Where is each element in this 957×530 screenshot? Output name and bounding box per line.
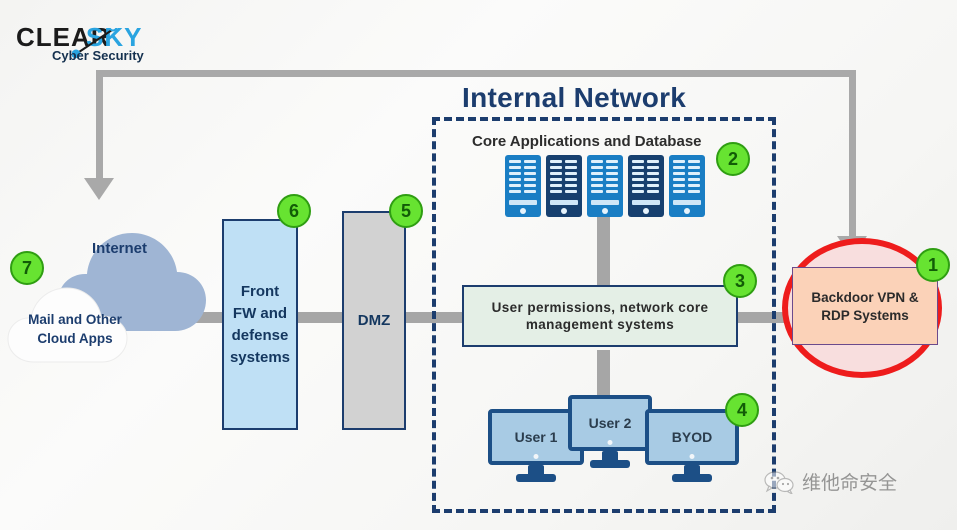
core-applications-label: Core Applications and Database (472, 133, 702, 150)
server-unit (628, 155, 664, 217)
step-badge-7: 7 (10, 251, 44, 285)
server-unit (546, 155, 582, 217)
step-badge-6: 6 (277, 194, 311, 228)
workstation-user-2: User 2 (568, 395, 652, 468)
workstation-byod: BYOD (645, 409, 739, 482)
mail-cloud-line-1: Mail and Other (28, 312, 122, 327)
workstation-label: User 1 (515, 429, 558, 445)
internet-label: Internet (92, 240, 147, 257)
workstation-label: User 2 (589, 415, 632, 431)
user-permissions-box: User permissions, network core managemen… (462, 285, 738, 347)
diagram-canvas: CLEAR SKY Cyber Security Internal Networ… (0, 0, 957, 530)
mail-cloud-label: Mail and Other Cloud Apps (10, 310, 140, 348)
path-left-segment (96, 70, 103, 180)
internal-network-title: Internal Network (462, 82, 686, 114)
dmz-label: DMZ (358, 312, 391, 329)
dmz-box: DMZ (342, 211, 406, 430)
workstation-label: BYOD (672, 429, 712, 445)
permissions-line-2: management systems (526, 317, 674, 332)
firewall-line-3: defense (232, 325, 289, 347)
server-unit (587, 155, 623, 217)
server-unit (505, 155, 541, 217)
step-badge-4: 4 (725, 393, 759, 427)
logo-tagline: Cyber Security (52, 48, 144, 63)
wechat-icon (764, 470, 794, 494)
path-top-segment (96, 70, 856, 77)
path-right-segment (849, 70, 856, 240)
firewall-line-1: Front (241, 281, 279, 303)
step-badge-3: 3 (723, 264, 757, 298)
front-firewall-box: Front FW and defense systems (222, 219, 298, 430)
firewall-line-2: FW and (233, 303, 287, 325)
backdoor-line-2: RDP Systems (821, 308, 909, 323)
arrow-to-internet-icon (84, 178, 114, 200)
backdoor-line-1: Backdoor VPN & (811, 290, 918, 305)
clearsky-logo: CLEAR SKY Cyber Security (14, 8, 204, 64)
backdoor-vpn-box: Backdoor VPN & RDP Systems (792, 267, 938, 345)
server-rack-group (505, 155, 705, 217)
step-badge-2: 2 (716, 142, 750, 176)
watermark: 维他命安全 (764, 468, 897, 495)
watermark-text: 维他命安全 (802, 468, 897, 495)
firewall-line-4: systems (230, 347, 290, 369)
server-unit (669, 155, 705, 217)
mail-cloud-line-2: Cloud Apps (37, 331, 112, 346)
permissions-line-1: User permissions, network core (492, 300, 709, 315)
step-badge-1: 1 (916, 248, 950, 282)
step-badge-5: 5 (389, 194, 423, 228)
